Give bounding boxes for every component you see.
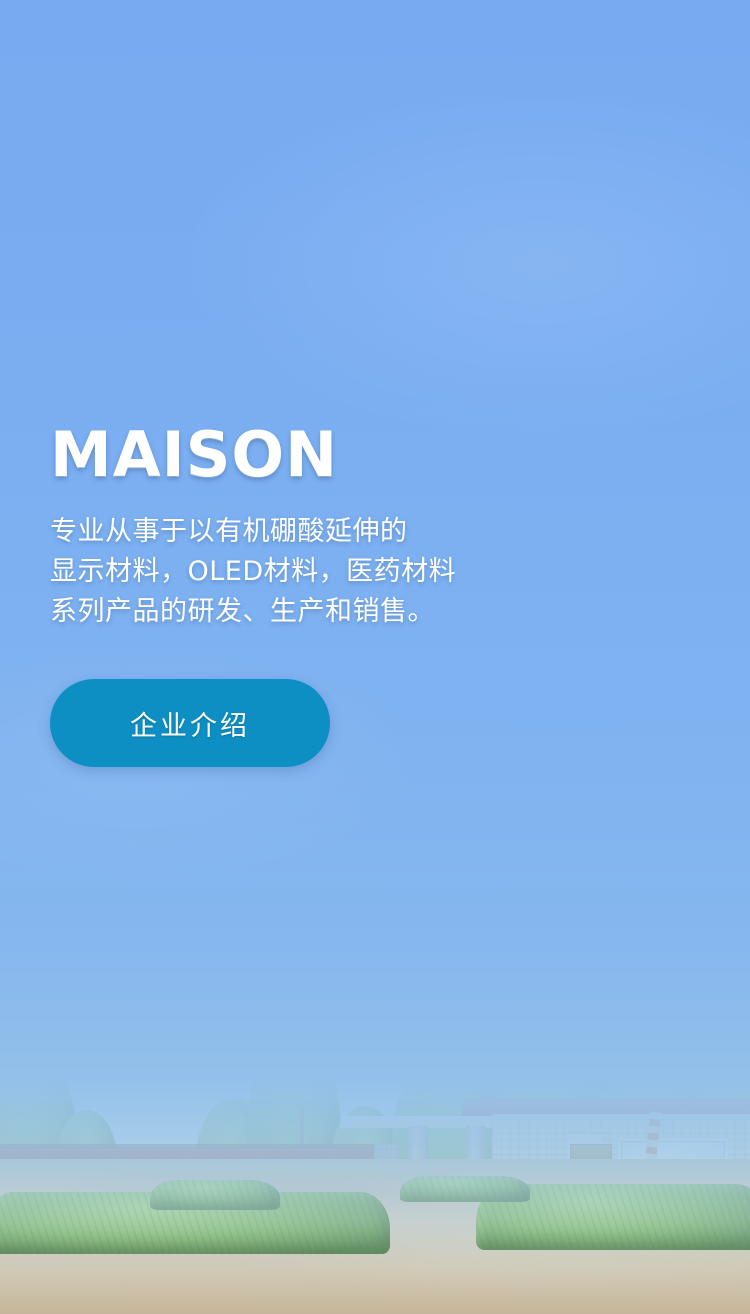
tagline-line-1: 专业从事于以有机硼酸延伸的 <box>50 512 690 552</box>
page-title: MAISON <box>50 424 690 486</box>
hero-content: MAISON 专业从事于以有机硼酸延伸的 显示材料，OLED材料，医药材料 系列… <box>50 424 690 767</box>
company-intro-button[interactable]: 企业介绍 <box>50 679 330 767</box>
hero-tagline: 专业从事于以有机硼酸延伸的 显示材料，OLED材料，医药材料 系列产品的研发、生… <box>50 512 690 632</box>
tagline-line-3: 系列产品的研发、生产和销售。 <box>50 592 690 632</box>
hero-banner: 河北美星公司 MAISON CHEMICAL MAISON 专业从事于以有机硼酸… <box>0 0 750 1314</box>
tagline-line-2: 显示材料，OLED材料，医药材料 <box>50 552 690 592</box>
